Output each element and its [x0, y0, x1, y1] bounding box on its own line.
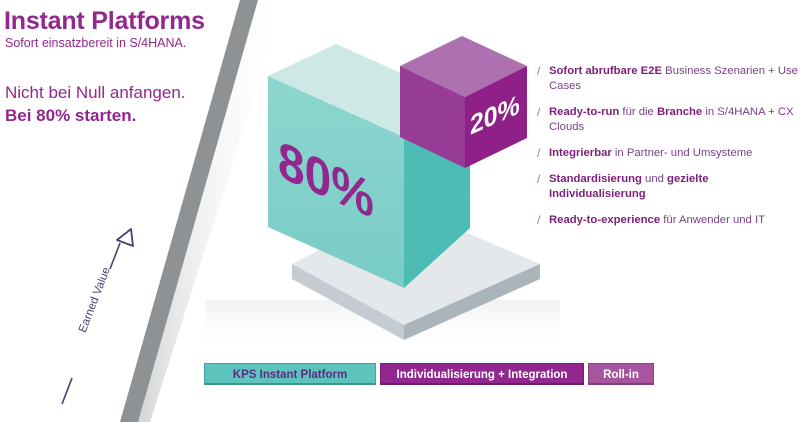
feature-list-item-text: Sofort abrufbare E2E Business Szenarien … — [549, 64, 800, 94]
claim-line-2: Bei 80% starten. — [5, 105, 186, 128]
earned-value-dash-lower — [62, 378, 72, 404]
diagonal-bar — [120, 0, 258, 422]
feature-list-item: /Ready-to-run für die Branche in S/4HANA… — [537, 105, 800, 135]
claim-line-1: Nicht bei Null anfangen. — [5, 83, 186, 102]
slash-bullet-icon: / — [537, 213, 549, 229]
feature-list-item: /Ready-to-experience für Anwender und IT — [537, 213, 800, 229]
slash-bullet-icon: / — [537, 64, 549, 80]
slash-bullet-icon: / — [537, 172, 549, 188]
infographic-canvas: 80% 20% Instant Platforms Sofort einsatz… — [0, 0, 800, 422]
page-title: Instant Platforms — [4, 8, 205, 34]
feature-list-item: /Standardisierung und gezielte Individua… — [537, 172, 800, 202]
feature-list-item-text: Ready-to-experience für Anwender und IT — [549, 213, 800, 228]
feature-list-item: /Sofort abrufbare E2E Business Szenarien… — [537, 64, 800, 94]
legend-bar: Individualisierung + Integration — [380, 363, 584, 385]
legend-bar: Roll-in — [588, 363, 654, 385]
page-subtitle: Sofort einsatzbereit in S/4HANA. — [5, 36, 186, 50]
feature-list-item-text: Ready-to-run für die Branche in S/4HANA … — [549, 105, 800, 135]
claim-text: Nicht bei Null anfangen. Bei 80% starten… — [5, 82, 186, 128]
feature-list-item: /Integrierbar in Partner- und Umsysteme — [537, 146, 800, 162]
feature-list-item-text: Standardisierung und gezielte Individual… — [549, 172, 800, 202]
legend-bar-group: KPS Instant PlatformIndividualisierung +… — [204, 363, 654, 385]
feature-list: /Sofort abrufbare E2E Business Szenarien… — [537, 64, 800, 240]
feature-list-item-text: Integrierbar in Partner- und Umsysteme — [549, 146, 800, 161]
earned-value-axis-line — [64, 233, 130, 408]
slash-bullet-icon: / — [537, 146, 549, 162]
slash-bullet-icon: / — [537, 105, 549, 121]
legend-bar: KPS Instant Platform — [204, 363, 376, 385]
earned-value-dash-upper — [110, 243, 120, 269]
